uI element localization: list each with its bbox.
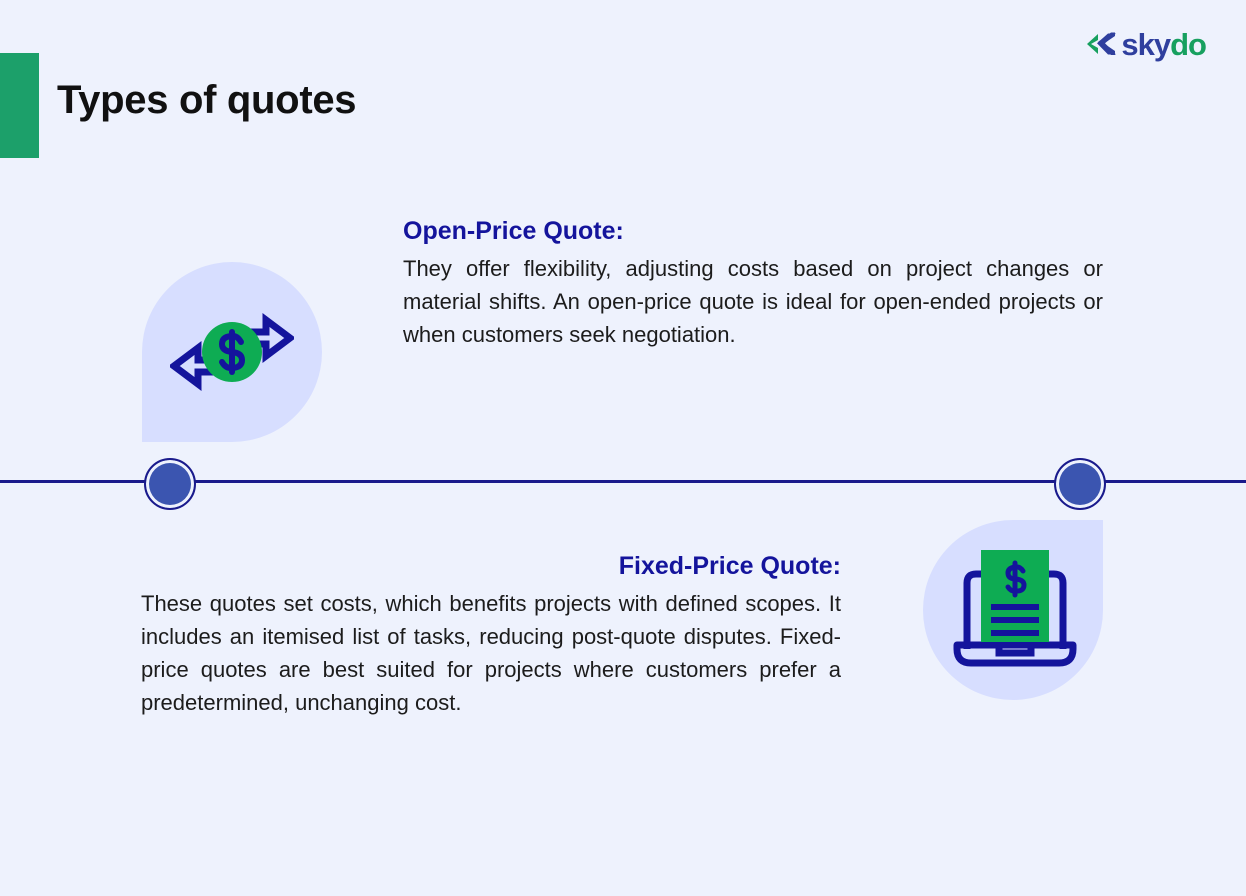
money-transfer-arrows-icon xyxy=(170,300,294,404)
title-accent-bar xyxy=(0,53,39,158)
fixed-price-heading: Fixed-Price Quote: xyxy=(141,551,841,581)
fixed-price-body: These quotes set costs, which benefits p… xyxy=(141,587,841,719)
open-price-section: Open-Price Quote: They offer flexibility… xyxy=(403,216,1103,351)
laptop-invoice-icon xyxy=(953,545,1077,667)
logo-text-do: do xyxy=(1170,27,1206,62)
page-title: Types of quotes xyxy=(57,78,356,123)
timeline-node-open-price xyxy=(144,458,196,510)
open-price-body: They offer flexibility, adjusting costs … xyxy=(403,252,1103,351)
fixed-price-section: Fixed-Price Quote: These quotes set cost… xyxy=(141,551,841,719)
timeline-node-fixed-price xyxy=(1054,458,1106,510)
logo-text-sky: sky xyxy=(1121,27,1170,62)
skydo-logo: skydo xyxy=(1085,27,1206,61)
skydo-chevron-mark-icon xyxy=(1085,30,1117,58)
open-price-heading: Open-Price Quote: xyxy=(403,216,1103,246)
